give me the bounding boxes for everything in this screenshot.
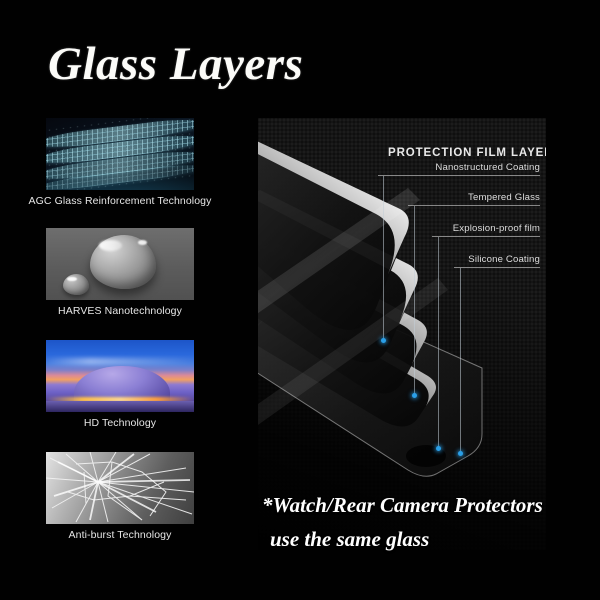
list-item[interactable]: Anti-burst Technology <box>0 452 240 541</box>
callout-label: Explosion-proof film <box>453 223 540 234</box>
protection-film-diagram: PROTECTION FILM LAYERS Nanostructured Co… <box>258 118 546 550</box>
footnote: *Watch/Rear Camera Protectors use the sa… <box>262 488 592 556</box>
leader-underline <box>432 236 540 237</box>
leader-endpoint-dot <box>412 393 417 398</box>
list-item[interactable]: HARVES Nanotechnology <box>0 228 240 317</box>
leader-line-3 <box>438 237 444 449</box>
diagram-heading: PROTECTION FILM LAYERS <box>388 147 540 159</box>
callout-label: Silicone Coating <box>468 254 540 265</box>
list-item[interactable]: AGC Glass Reinforcement Technology <box>0 118 240 207</box>
thumbnail-label: HARVES Nanotechnology <box>0 305 240 317</box>
callout-label: Nanostructured Coating <box>435 162 540 173</box>
callout-explosion-proof-film[interactable]: Explosion-proof film <box>432 225 540 237</box>
leader-line-1 <box>383 176 389 341</box>
callout-nanostructured-coating[interactable]: Nanostructured Coating <box>378 164 540 176</box>
layered-mesh-icon <box>46 118 194 190</box>
leader-endpoint-dot <box>436 446 441 451</box>
callout-silicone-coating[interactable]: Silicone Coating <box>454 256 540 268</box>
leader-underline <box>408 205 540 206</box>
glass-layers-illustration <box>258 118 546 550</box>
thumbnail-label: Anti-burst Technology <box>0 529 240 541</box>
footnote-line-1: *Watch/Rear Camera Protectors <box>262 493 543 517</box>
leader-line-4 <box>460 268 466 454</box>
leader-line-2 <box>414 206 420 396</box>
sunset-landscape-icon <box>46 340 194 412</box>
product-infographic: Glass Layers AGC Glass Reinforcement Tec… <box>0 0 600 600</box>
leader-underline <box>378 175 540 176</box>
leader-underline <box>454 267 540 268</box>
thumbnail-label: HD Technology <box>0 417 240 429</box>
leader-endpoint-dot <box>381 338 386 343</box>
page-title: Glass Layers <box>48 36 303 92</box>
leader-endpoint-dot <box>458 451 463 456</box>
technology-thumbnail-list: AGC Glass Reinforcement Technology HARVE… <box>0 118 240 578</box>
list-item[interactable]: HD Technology <box>0 340 240 429</box>
thumbnail-label: AGC Glass Reinforcement Technology <box>0 195 240 207</box>
callout-label: Tempered Glass <box>468 192 540 203</box>
footnote-line-2: use the same glass <box>262 522 592 556</box>
water-droplet-icon <box>46 228 194 300</box>
callout-tempered-glass[interactable]: Tempered Glass <box>408 194 540 206</box>
cracked-glass-icon <box>46 452 194 524</box>
